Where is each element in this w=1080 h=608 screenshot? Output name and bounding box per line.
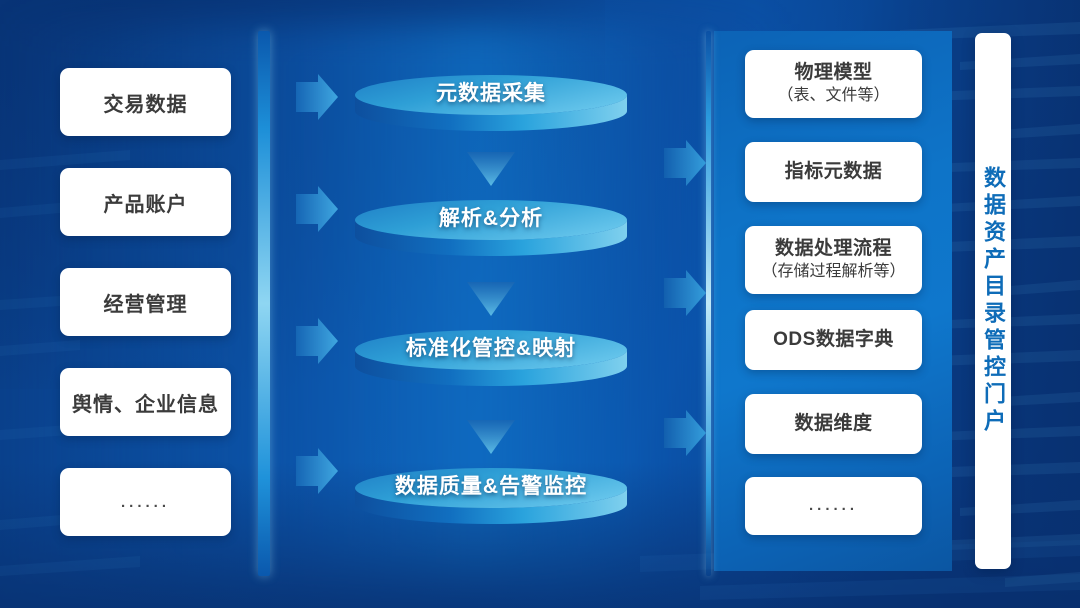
source-card-label: 舆情、企业信息 (72, 388, 219, 417)
source-card-label: ...... (121, 494, 170, 511)
output-card-4[interactable]: 数据维度 (745, 394, 922, 454)
arrow-down-icon (467, 282, 515, 316)
source-card-label: 经营管理 (104, 288, 188, 317)
output-card-title: 数据处理流程 (775, 237, 892, 261)
arrow-right-icon (664, 270, 706, 316)
output-card-subtitle: （表、文件等） (777, 86, 889, 106)
portal-banner-label: 数据资产目录管控门户 (982, 166, 1004, 436)
output-card-title: 指标元数据 (785, 160, 883, 184)
output-card-3[interactable]: ODS数据字典 (745, 310, 922, 370)
source-card-3[interactable]: 舆情、企业信息 (60, 368, 231, 436)
arrow-right-icon (296, 448, 338, 494)
arrow-right-icon (664, 410, 706, 456)
divider-left (258, 31, 270, 576)
output-card-title: 物理模型 (794, 61, 872, 85)
output-card-0[interactable]: 物理模型 （表、文件等） (745, 50, 922, 118)
pipeline-stage-0[interactable]: 元数据采集 (355, 75, 627, 137)
source-card-0[interactable]: 交易数据 (60, 68, 231, 136)
output-card-title: ...... (809, 496, 858, 515)
arrow-right-icon (664, 140, 706, 186)
source-card-label: 产品账户 (104, 188, 188, 217)
pipeline-stage-2[interactable]: 标准化管控&映射 (355, 330, 627, 392)
divider-right (706, 31, 711, 576)
arrow-right-icon (296, 318, 338, 364)
source-card-4[interactable]: ...... (60, 468, 231, 536)
source-card-label: 交易数据 (104, 88, 188, 117)
source-card-2[interactable]: 经营管理 (60, 268, 231, 336)
arrow-down-icon (467, 420, 515, 454)
pipeline-stage-3[interactable]: 数据质量&告警监控 (355, 468, 627, 530)
arrow-right-icon (296, 74, 338, 120)
diagram-canvas: 交易数据 产品账户 经营管理 舆情、企业信息 ...... (0, 0, 1080, 608)
output-card-1[interactable]: 指标元数据 (745, 142, 922, 202)
output-card-title: ODS数据字典 (773, 328, 894, 352)
arrow-down-icon (467, 152, 515, 186)
arrow-right-icon (296, 186, 338, 232)
output-card-5[interactable]: ...... (745, 477, 922, 535)
output-card-2[interactable]: 数据处理流程 （存储过程解析等） (745, 226, 922, 294)
pipeline-stage-1[interactable]: 解析&分析 (355, 200, 627, 262)
portal-banner[interactable]: 数据资产目录管控门户 (975, 33, 1011, 569)
output-card-title: 数据维度 (794, 412, 872, 436)
source-card-1[interactable]: 产品账户 (60, 168, 231, 236)
output-card-subtitle: （存储过程解析等） (761, 262, 905, 282)
